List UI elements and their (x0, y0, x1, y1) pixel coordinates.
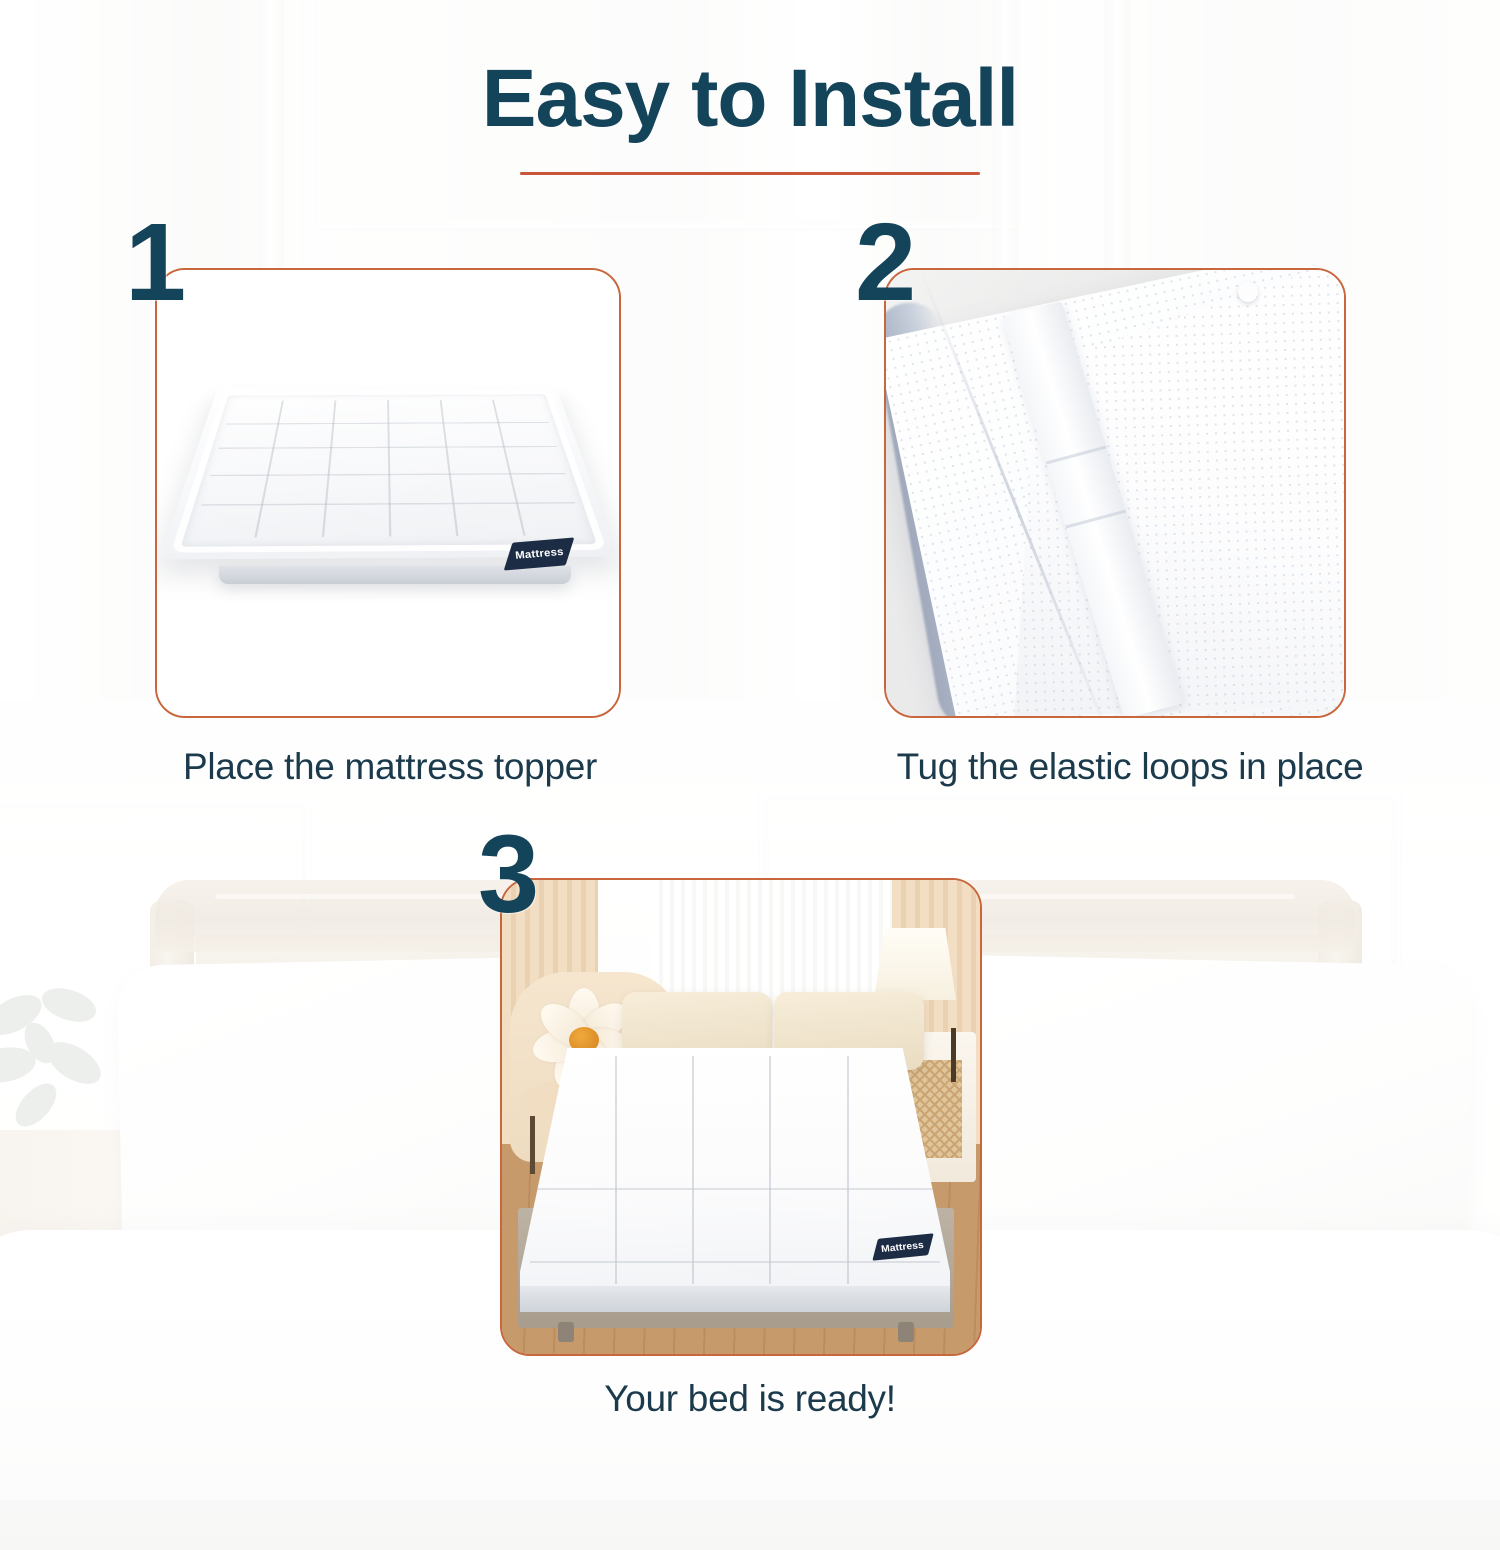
topper-top-surface (159, 387, 619, 559)
nightstand-leg (951, 1028, 956, 1082)
step-3-caption: Your bed is ready! (380, 1378, 1120, 1420)
installed-mattress-topper (520, 1048, 950, 1308)
brand-tag-label: Mattress (881, 1240, 925, 1255)
elastic-loop-illustration (886, 270, 1344, 716)
step-2-image-frame (884, 268, 1346, 718)
step-3-image-frame: Mattress (500, 878, 982, 1356)
bed-foot (558, 1322, 574, 1342)
topper-quilt-grid (192, 399, 586, 537)
title-underline (520, 172, 980, 175)
mattress-topper-illustration: Mattress (157, 270, 619, 716)
step-2-caption: Tug the elastic loops in place (760, 746, 1500, 788)
fabric-button (1238, 282, 1258, 302)
step-number-3: 3 (478, 820, 539, 930)
page-title: Easy to Install (0, 52, 1500, 146)
bed-foot (898, 1322, 914, 1342)
table-lamp (874, 928, 956, 1000)
brand-tag-label: Mattress (514, 546, 564, 562)
chair-leg (530, 1116, 535, 1174)
step-number-1: 1 (125, 208, 186, 318)
step-1-caption: Place the mattress topper (20, 746, 760, 788)
step-number-2: 2 (855, 208, 916, 318)
step-1-image-frame: Mattress (155, 268, 621, 718)
bedroom-scene-illustration: Mattress (502, 880, 980, 1354)
topper-side-edge (520, 1286, 950, 1312)
